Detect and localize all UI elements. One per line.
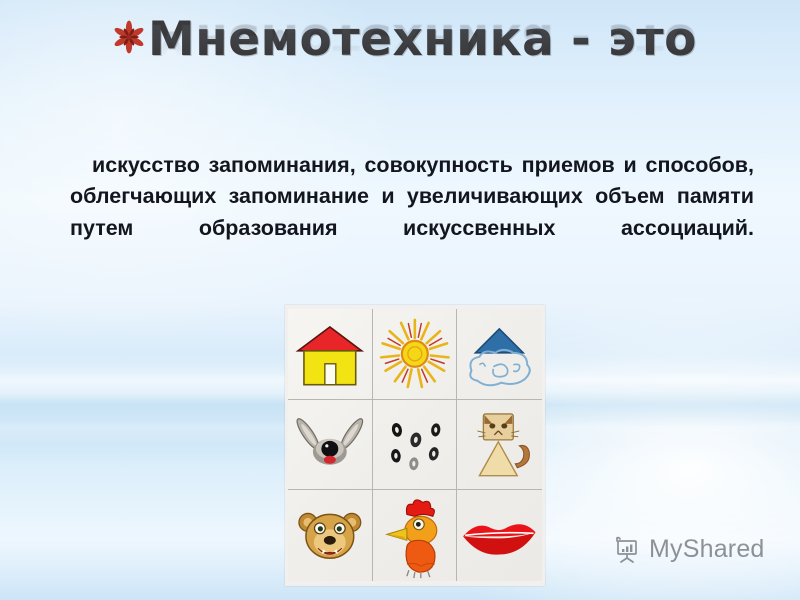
asterisk-flower-icon [112,20,146,54]
grid-cell-house [288,309,373,400]
grid-cell-rabbit [288,400,373,491]
presentation-slide: Мнемотехника - это Мнемотехника - это ис… [0,0,800,600]
myshared-label: MyShared [649,535,765,564]
grid-cell-bear [288,490,373,581]
bear-icon [288,490,372,581]
rooster-icon [373,490,457,581]
lips-icon [457,490,542,581]
presentation-board-icon [612,534,642,564]
photo-inner [288,309,542,581]
sun-icon [373,309,457,399]
body-paragraph: искусство запоминания, совокупность прие… [70,150,754,276]
slide-title-block: Мнемотехника - это Мнемотехника - это [112,16,752,126]
title-row: Мнемотехника - это [112,16,752,63]
triangle-cloud-icon [457,309,542,399]
grid-cell-rooster [373,490,458,581]
grid-cell-triangle-cloud [457,309,542,400]
grid-cell-cat [457,400,542,491]
page-title: Мнемотехника - это [148,16,697,63]
house-icon [288,309,372,399]
cat-icon [457,400,542,490]
grid-cell-sun [373,309,458,400]
rabbit-icon [288,400,372,490]
mnemonic-picture-grid [285,305,545,586]
grid-cell-spots [373,400,458,491]
grid-cell-lips [457,490,542,581]
spots-icon [373,400,457,490]
myshared-watermark: MyShared [612,534,765,564]
grid-3x3 [288,309,542,581]
